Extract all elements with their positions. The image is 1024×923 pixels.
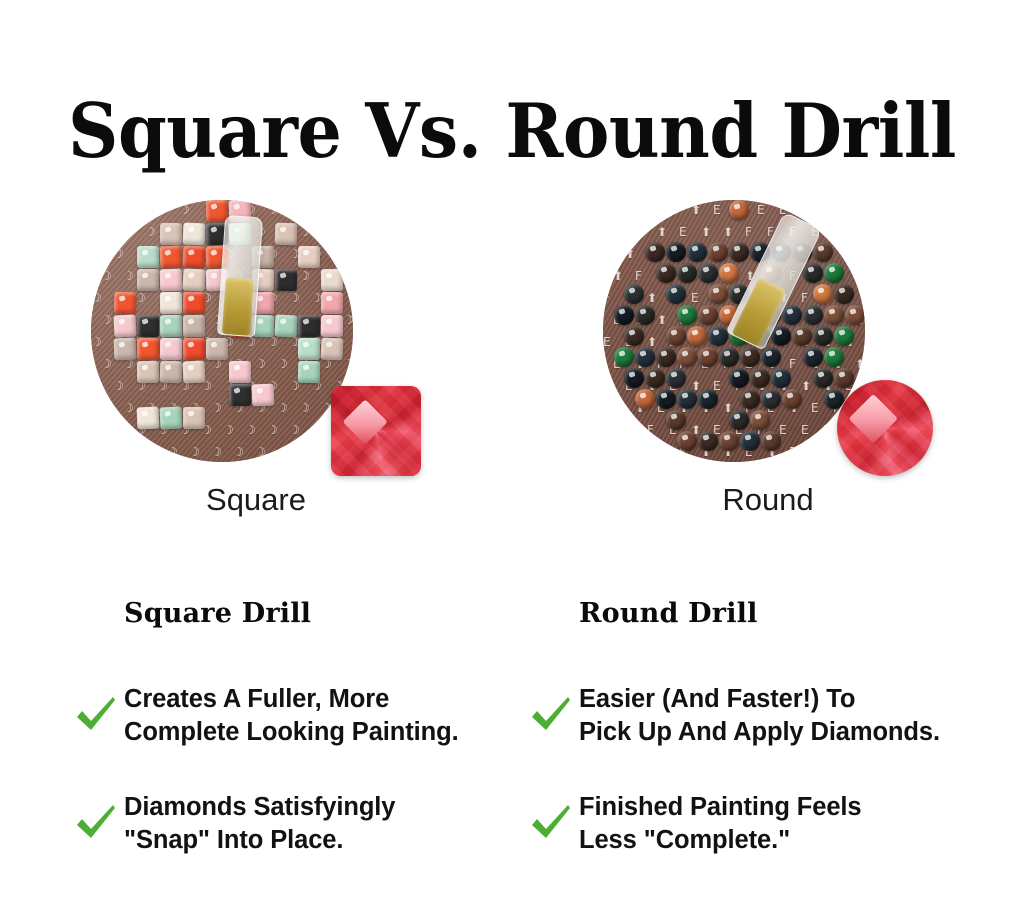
round-drill-bead (792, 326, 812, 346)
round-drill-bead (677, 431, 697, 451)
round-drill-bead (677, 347, 697, 367)
square-drill-bead (159, 245, 182, 268)
square-drill-bead (183, 315, 205, 337)
round-drill-bead (687, 326, 707, 346)
round-drill-bead (845, 305, 865, 325)
round-photo-caption: Round (512, 482, 1024, 518)
square-drill-bead (298, 338, 320, 360)
round-drill-bead (614, 305, 634, 325)
round-drill-bead (719, 263, 739, 283)
round-drill-bead (729, 242, 749, 262)
square-drill-bead (182, 268, 205, 291)
square-drill-panel: Square Drill Creates A Fuller, More Comp… (70, 600, 540, 900)
square-drill-bead (137, 315, 159, 337)
round-drill-bead (813, 326, 833, 346)
square-drill-bead (275, 269, 297, 291)
square-drill-bead (137, 246, 159, 268)
round-drill-bead (834, 284, 854, 304)
round-drill-bead (750, 410, 770, 430)
round-drill-bead (677, 305, 697, 325)
round-photo-column: ⬆EE⬆⬆EFEEE⬆F⬆EF⬆E⬆⬆FFFE⬆E⬆⬆⬆FF⬆E⬆F⬆F⬆E⬆⬆… (512, 196, 1024, 536)
round-drill-bead (824, 305, 844, 325)
round-drill-bead (803, 263, 823, 283)
square-drill-bead (160, 292, 182, 314)
round-drill-bead (666, 368, 686, 388)
round-drill-bead (677, 263, 697, 283)
square-drill-bead (183, 246, 206, 269)
square-drill-bead (159, 406, 182, 429)
square-drill-bead (137, 269, 159, 291)
round-drill-bead (635, 347, 655, 367)
round-drill-bead (624, 326, 644, 346)
benefit-item: Diamonds Satisfyingly "Snap" Into Place. (70, 791, 540, 867)
photo-comparison-row: ☽☽☽☽☽☽☽☽☽☽☽☽☽☽☽☽☽☽☽☽☽☽☽☽☽☽☽☽☽☽☽☽☽☽☽☽☽☽☽☽… (0, 196, 1024, 536)
square-drill-heading: Square Drill (124, 600, 540, 627)
square-drill-bead (252, 384, 275, 407)
round-drill-bead (761, 347, 781, 367)
square-drill-bead (183, 338, 205, 360)
square-drill-bead (113, 314, 136, 337)
check-icon (74, 801, 118, 845)
square-photo-stage: ☽☽☽☽☽☽☽☽☽☽☽☽☽☽☽☽☽☽☽☽☽☽☽☽☽☽☽☽☽☽☽☽☽☽☽☽☽☽☽☽… (91, 196, 421, 476)
round-drill-bead (666, 284, 686, 304)
square-drill-bead (160, 269, 183, 292)
round-drill-bead (666, 410, 686, 430)
square-drill-bead (321, 292, 343, 314)
round-drill-bead (687, 242, 707, 262)
round-gem-sample (837, 380, 933, 476)
square-drill-bead (160, 338, 182, 360)
round-drill-bead (771, 326, 791, 346)
round-drill-bead (645, 368, 665, 388)
benefit-text: Creates A Fuller, More Complete Looking … (124, 683, 540, 748)
round-drill-bead (813, 242, 833, 262)
round-drill-bead (708, 242, 728, 262)
square-drill-bead (137, 338, 159, 360)
square-drill-bead (320, 337, 343, 360)
round-drill-bead (698, 263, 718, 283)
round-drill-bead (698, 431, 718, 451)
square-drill-bead (160, 361, 183, 384)
round-drill-bead (698, 389, 718, 409)
benefit-item: Creates A Fuller, More Complete Looking … (70, 683, 540, 759)
pen-wax (222, 277, 253, 335)
square-drill-bead (229, 361, 251, 383)
round-drill-bead (614, 347, 634, 367)
square-drill-bead (321, 315, 343, 337)
page-title: Square Vs. Round Drill (36, 94, 988, 169)
square-drill-bead (160, 315, 182, 337)
square-drill-bead (275, 223, 298, 246)
round-drill-bead (803, 305, 823, 325)
check-icon (529, 801, 573, 845)
round-drill-bead (824, 263, 844, 283)
round-drill-bead (708, 326, 728, 346)
square-drill-bead (183, 407, 205, 429)
round-drill-panel: Round Drill Easier (And Faster!) To Pick… (525, 600, 995, 900)
square-drill-bead (206, 338, 228, 360)
square-drill-bead (298, 315, 320, 337)
round-drill-bead (813, 368, 833, 388)
round-drill-bead (813, 284, 833, 304)
round-drill-bead (729, 368, 749, 388)
round-drill-bead (740, 431, 760, 451)
round-drill-bead (719, 431, 739, 451)
round-drill-bead (635, 389, 655, 409)
square-drill-bead (321, 269, 343, 291)
benefits-section: Square Drill Creates A Fuller, More Comp… (0, 600, 1024, 900)
square-photo-column: ☽☽☽☽☽☽☽☽☽☽☽☽☽☽☽☽☽☽☽☽☽☽☽☽☽☽☽☽☽☽☽☽☽☽☽☽☽☽☽☽… (0, 196, 512, 536)
check-icon (74, 693, 118, 737)
round-drill-bead (803, 347, 823, 367)
square-drill-bead (298, 246, 320, 268)
round-drill-bead (698, 347, 718, 367)
benefit-text: Diamonds Satisfyingly "Snap" Into Place. (124, 791, 540, 856)
round-drill-photo: ⬆EE⬆⬆EFEEE⬆F⬆EF⬆E⬆⬆FFFE⬆E⬆⬆⬆FF⬆E⬆F⬆F⬆E⬆⬆… (603, 200, 865, 462)
square-drill-bead (137, 407, 160, 430)
square-drill-bead (160, 223, 182, 245)
round-drill-bead (645, 242, 665, 262)
square-drill-bead (182, 222, 205, 245)
round-drill-bead (761, 431, 781, 451)
square-photo-caption: Square (0, 482, 512, 518)
round-drill-bead (708, 284, 728, 304)
square-drill-bead (183, 292, 205, 314)
square-drill-bead (114, 338, 137, 361)
square-drill-bead (298, 361, 320, 383)
square-drill-bead (206, 200, 228, 222)
round-drill-bead (635, 305, 655, 325)
round-drill-bead (624, 284, 644, 304)
benefit-text: Finished Painting Feels Less "Complete." (579, 791, 995, 856)
square-drill-bead (229, 384, 251, 406)
round-drill-bead (666, 326, 686, 346)
round-drill-bead (656, 389, 676, 409)
round-drill-bead (782, 305, 802, 325)
round-drill-bead (624, 368, 644, 388)
round-drill-bead (824, 347, 844, 367)
square-drill-photo: ☽☽☽☽☽☽☽☽☽☽☽☽☽☽☽☽☽☽☽☽☽☽☽☽☽☽☽☽☽☽☽☽☽☽☽☽☽☽☽☽… (91, 200, 353, 462)
square-gem-sample (331, 386, 421, 476)
square-drill-bead (274, 314, 297, 337)
square-drill-bead (183, 361, 206, 384)
round-drill-heading: Round Drill (579, 600, 995, 627)
round-drill-bead (834, 326, 854, 346)
round-drill-bead (677, 389, 697, 409)
round-drill-bead (740, 389, 760, 409)
square-drill-bead (137, 361, 159, 383)
round-drill-bead (740, 347, 760, 367)
round-drill-bead (750, 368, 770, 388)
round-drill-bead (656, 263, 676, 283)
round-drill-bead (698, 305, 718, 325)
round-drill-bead (666, 242, 686, 262)
round-drill-bead (729, 200, 749, 220)
check-icon (529, 693, 573, 737)
round-drill-bead (824, 389, 844, 409)
round-drill-bead (729, 410, 749, 430)
round-drill-bead (782, 389, 802, 409)
round-drill-bead (719, 347, 739, 367)
round-drill-bead (771, 368, 791, 388)
round-drill-bead (834, 368, 854, 388)
round-photo-stage: ⬆EE⬆⬆EFEEE⬆F⬆EF⬆E⬆⬆FFFE⬆E⬆⬆⬆FF⬆E⬆F⬆F⬆E⬆⬆… (603, 196, 933, 476)
round-drill-bead (656, 347, 676, 367)
benefit-text: Easier (And Faster!) To Pick Up And Appl… (579, 683, 995, 748)
square-drill-bead (114, 292, 137, 315)
round-drill-bead (761, 389, 781, 409)
benefit-item: Easier (And Faster!) To Pick Up And Appl… (525, 683, 995, 759)
benefit-item: Finished Painting Feels Less "Complete." (525, 791, 995, 867)
